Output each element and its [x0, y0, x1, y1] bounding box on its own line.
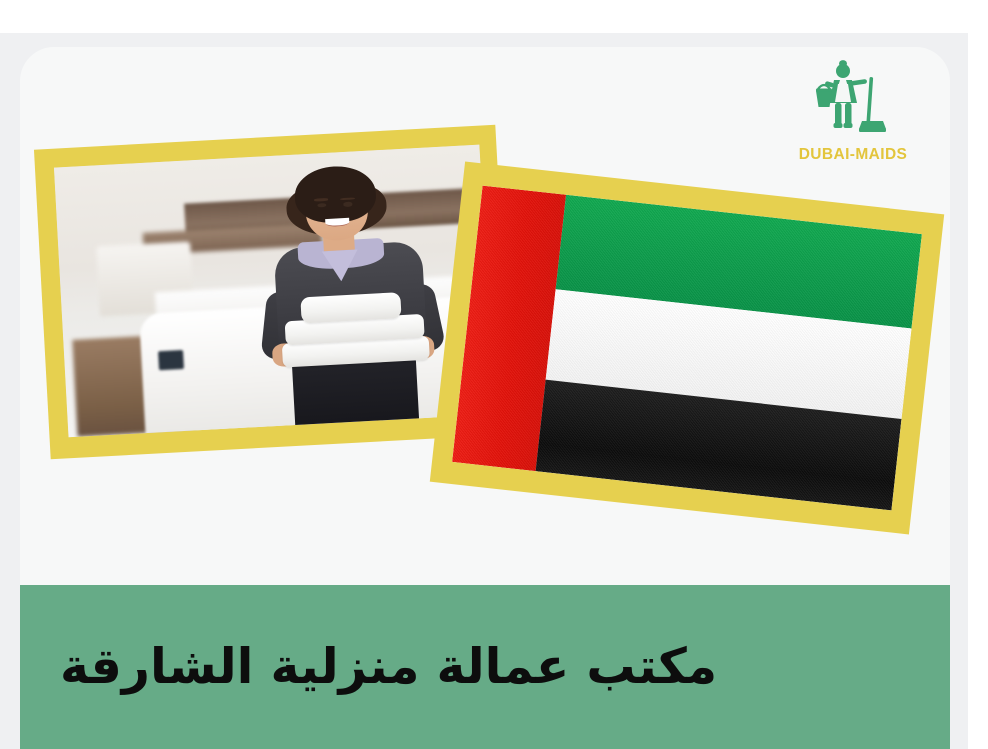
flag-stripes — [536, 195, 922, 511]
photo-maid — [54, 145, 494, 438]
content-card: DUBAI-MAIDS مكتب عمالة منزلية الشارقة — [20, 47, 950, 749]
maid-eye-right — [343, 202, 353, 207]
photo-uae-flag-frame[interactable] — [430, 162, 944, 535]
alarm-clock — [158, 350, 185, 370]
maid-with-bucket-and-broom-icon — [813, 57, 893, 145]
page-root: DUBAI-MAIDS مكتب عمالة منزلية الشارقة — [0, 0, 988, 749]
brand-wordmark: DUBAI-MAIDS — [778, 146, 928, 164]
folded-towel-top — [300, 292, 401, 323]
caption-band: مكتب عمالة منزلية الشارقة — [20, 585, 950, 749]
page-title: مكتب عمالة منزلية الشارقة — [20, 636, 757, 697]
photo-uae-flag — [452, 186, 922, 511]
uae-flag — [452, 186, 922, 511]
brand-logo[interactable]: DUBAI-MAIDS — [778, 57, 928, 169]
